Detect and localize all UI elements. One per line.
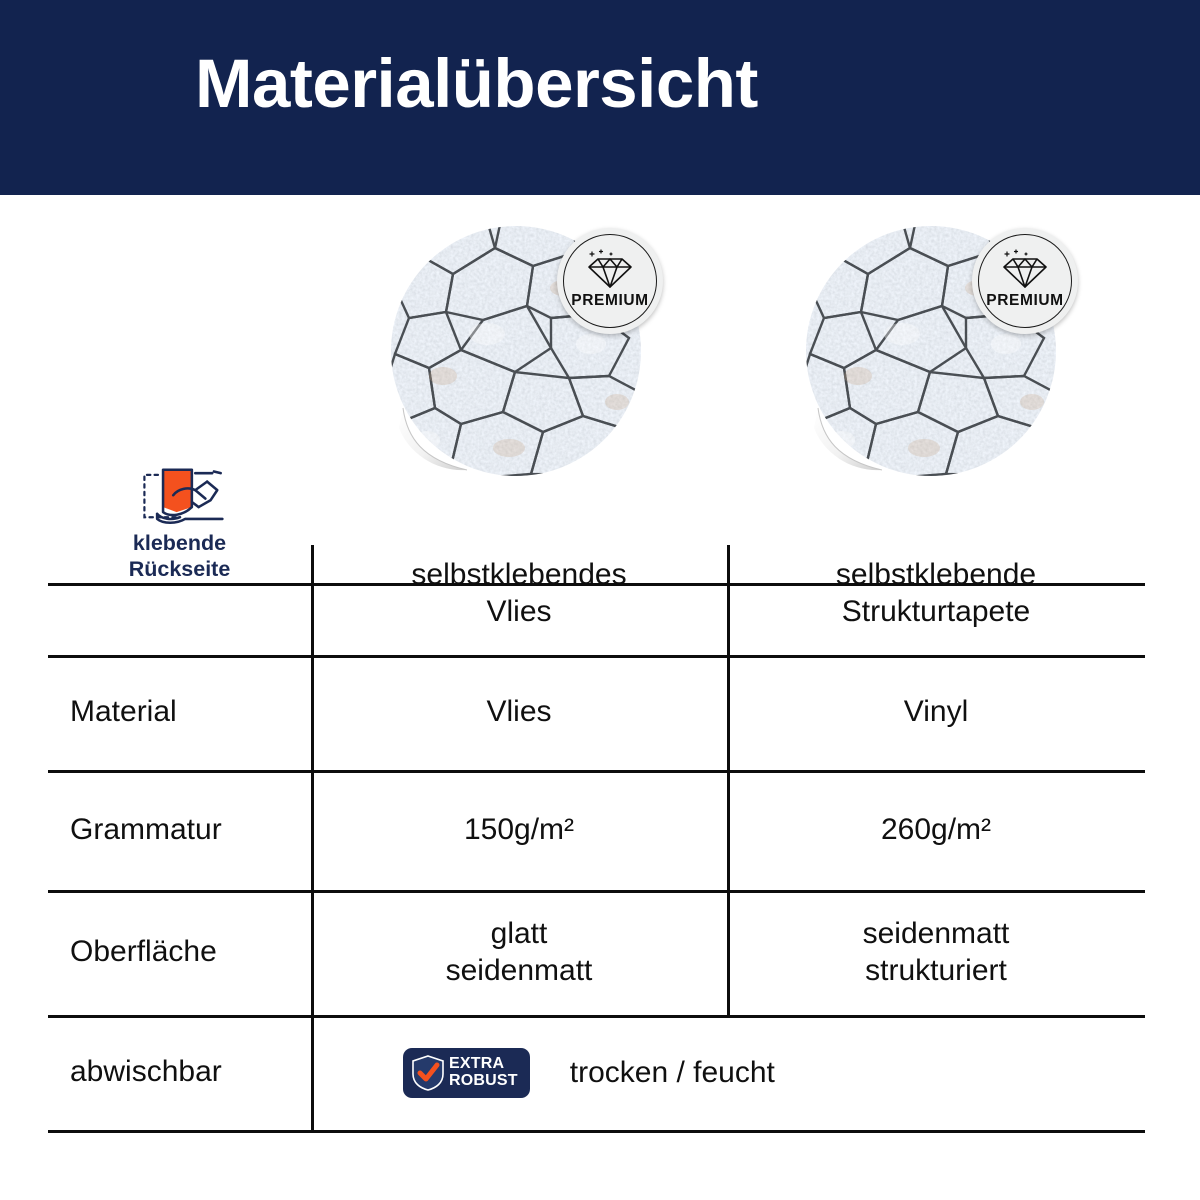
badge-ring xyxy=(978,234,1072,328)
row-label-oberflaeche: Oberfläche xyxy=(48,890,333,1015)
column-header-vlies-line1: selbstklebendes xyxy=(411,557,626,594)
cell-material-vinyl: Vinyl xyxy=(727,655,1145,770)
table-hline-4 xyxy=(48,1015,1145,1018)
cell-grammatur-vinyl: 260g/m² xyxy=(727,770,1145,890)
swatch-strukturtapete[interactable]: PREMIUM xyxy=(806,226,1056,476)
cell-oberflaeche-vlies-line2: seidenmatt xyxy=(446,953,593,990)
premium-badge-right[interactable]: PREMIUM xyxy=(972,228,1078,334)
adhesive-back-label-line2: Rückseite xyxy=(129,557,231,583)
table-hline-3 xyxy=(48,890,1145,893)
adhesive-back-cell: klebende Rückseite xyxy=(48,463,311,583)
extra-robust-badge-line2: ROBUST xyxy=(449,1073,518,1089)
cell-oberflaeche-vinyl-line1: seidenmatt xyxy=(863,916,1010,953)
adhesive-back-label-line1: klebende xyxy=(129,531,231,557)
peeling-sticker-hand-icon xyxy=(124,463,236,527)
badge-ring xyxy=(563,234,657,328)
column-header-vlies: selbstklebendes Vlies xyxy=(311,535,727,653)
table-vline-1 xyxy=(311,545,314,1133)
cell-oberflaeche-vinyl-line2: strukturiert xyxy=(863,953,1010,990)
swatch-vlies[interactable]: PREMIUM xyxy=(391,226,641,476)
extra-robust-badge-line1: EXTRA xyxy=(449,1056,504,1072)
premium-badge-left[interactable]: PREMIUM xyxy=(557,228,663,334)
cell-material-vlies: Vlies xyxy=(311,655,727,770)
adhesive-back-label: klebende Rückseite xyxy=(129,531,231,583)
table-vline-2 xyxy=(727,545,730,1018)
cell-abwischbar-value: EXTRA ROBUST trocken / feucht xyxy=(403,1015,775,1130)
row-label-material: Material xyxy=(48,655,333,770)
column-header-vlies-line2: Vlies xyxy=(411,594,626,631)
table-hline-bottom xyxy=(48,1130,1145,1133)
header-banner: Materialübersicht xyxy=(0,0,1200,195)
cell-grammatur-vlies: 150g/m² xyxy=(311,770,727,890)
abwischbar-value-text: trocken / feucht xyxy=(570,1056,775,1090)
table-hline-header xyxy=(48,583,1145,586)
extra-robust-badge: EXTRA ROBUST xyxy=(403,1048,530,1098)
cell-oberflaeche-vlies-line1: glatt xyxy=(446,916,593,953)
shield-check-icon xyxy=(411,1054,445,1092)
page-title: Materialübersicht xyxy=(195,49,758,118)
swatch-row: PREMIUM xyxy=(0,195,1200,475)
row-label-grammatur: Grammatur xyxy=(48,770,333,890)
cell-oberflaeche-vlies: glatt seidenmatt xyxy=(311,890,727,1015)
row-label-abwischbar: abwischbar xyxy=(48,1015,333,1130)
column-header-vinyl: selbstklebende Strukturtapete xyxy=(727,535,1145,653)
table-hline-1 xyxy=(48,655,1145,658)
column-header-vinyl-line1: selbstklebende xyxy=(836,557,1036,594)
column-header-vinyl-line2: Strukturtapete xyxy=(836,594,1036,631)
table-hline-2 xyxy=(48,770,1145,773)
cell-oberflaeche-vinyl: seidenmatt strukturiert xyxy=(727,890,1145,1015)
